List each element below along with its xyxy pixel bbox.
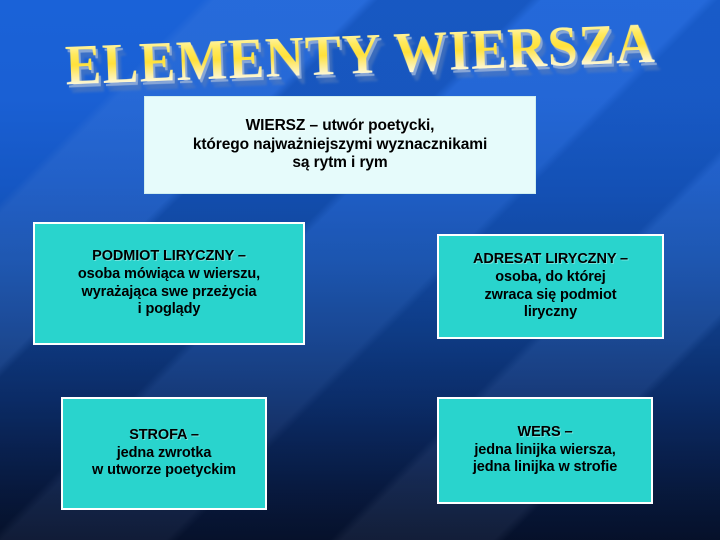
definition-box-podmiot-liryczny: PODMIOT LIRYCZNY – osoba mówiąca w wiers… — [33, 222, 305, 345]
box-adresat-line-4: liryczny — [524, 304, 577, 322]
box-wiersz-line-3: są rytm i rym — [292, 154, 387, 173]
box-adresat-line-2: osoba, do której — [495, 269, 605, 287]
box-strofa-line-1: STROFA – — [129, 427, 199, 445]
definition-box-wiersz: WIERSZ – utwór poetycki, którego najważn… — [144, 96, 536, 194]
box-wers-line-1: WERS – — [518, 424, 573, 442]
box-adresat-line-1: ADRESAT LIRYCZNY – — [473, 251, 628, 269]
slide-title: ELEMENTY WIERSZA — [0, 18, 720, 90]
definition-box-wers: WERS – jedna linijka wiersza, jedna lini… — [437, 397, 653, 504]
box-wers-line-2: jedna linijka wiersza, — [474, 442, 615, 460]
slide-title-text: ELEMENTY WIERSZA — [64, 10, 657, 98]
box-wiersz-line-2: którego najważniejszymi wyznacznikami — [193, 136, 487, 155]
box-strofa-line-2: jedna zwrotka — [117, 445, 212, 463]
box-wers-line-3: jedna linijka w strofie — [473, 459, 617, 477]
definition-box-strofa: STROFA – jedna zwrotka w utworze poetyck… — [61, 397, 267, 510]
box-podmiot-line-3: wyrażająca swe przeżycia — [82, 284, 257, 302]
box-podmiot-line-1: PODMIOT LIRYCZNY – — [92, 248, 246, 266]
box-podmiot-line-4: i poglądy — [138, 301, 201, 319]
box-adresat-line-3: zwraca się podmiot — [485, 287, 617, 305]
box-wiersz-line-3-prefix: są — [292, 154, 313, 171]
box-strofa-line-3: w utworze poetyckim — [92, 462, 236, 480]
box-wiersz-emphasis: rytm i rym — [314, 154, 388, 171]
box-podmiot-line-2: osoba mówiąca w wierszu, — [78, 266, 260, 284]
definition-box-adresat-liryczny: ADRESAT LIRYCZNY – osoba, do której zwra… — [437, 234, 664, 339]
slide-canvas: ELEMENTY WIERSZA WIERSZ – utwór poetycki… — [0, 0, 720, 540]
box-wiersz-line-1: WIERSZ – utwór poetycki, — [246, 117, 435, 136]
